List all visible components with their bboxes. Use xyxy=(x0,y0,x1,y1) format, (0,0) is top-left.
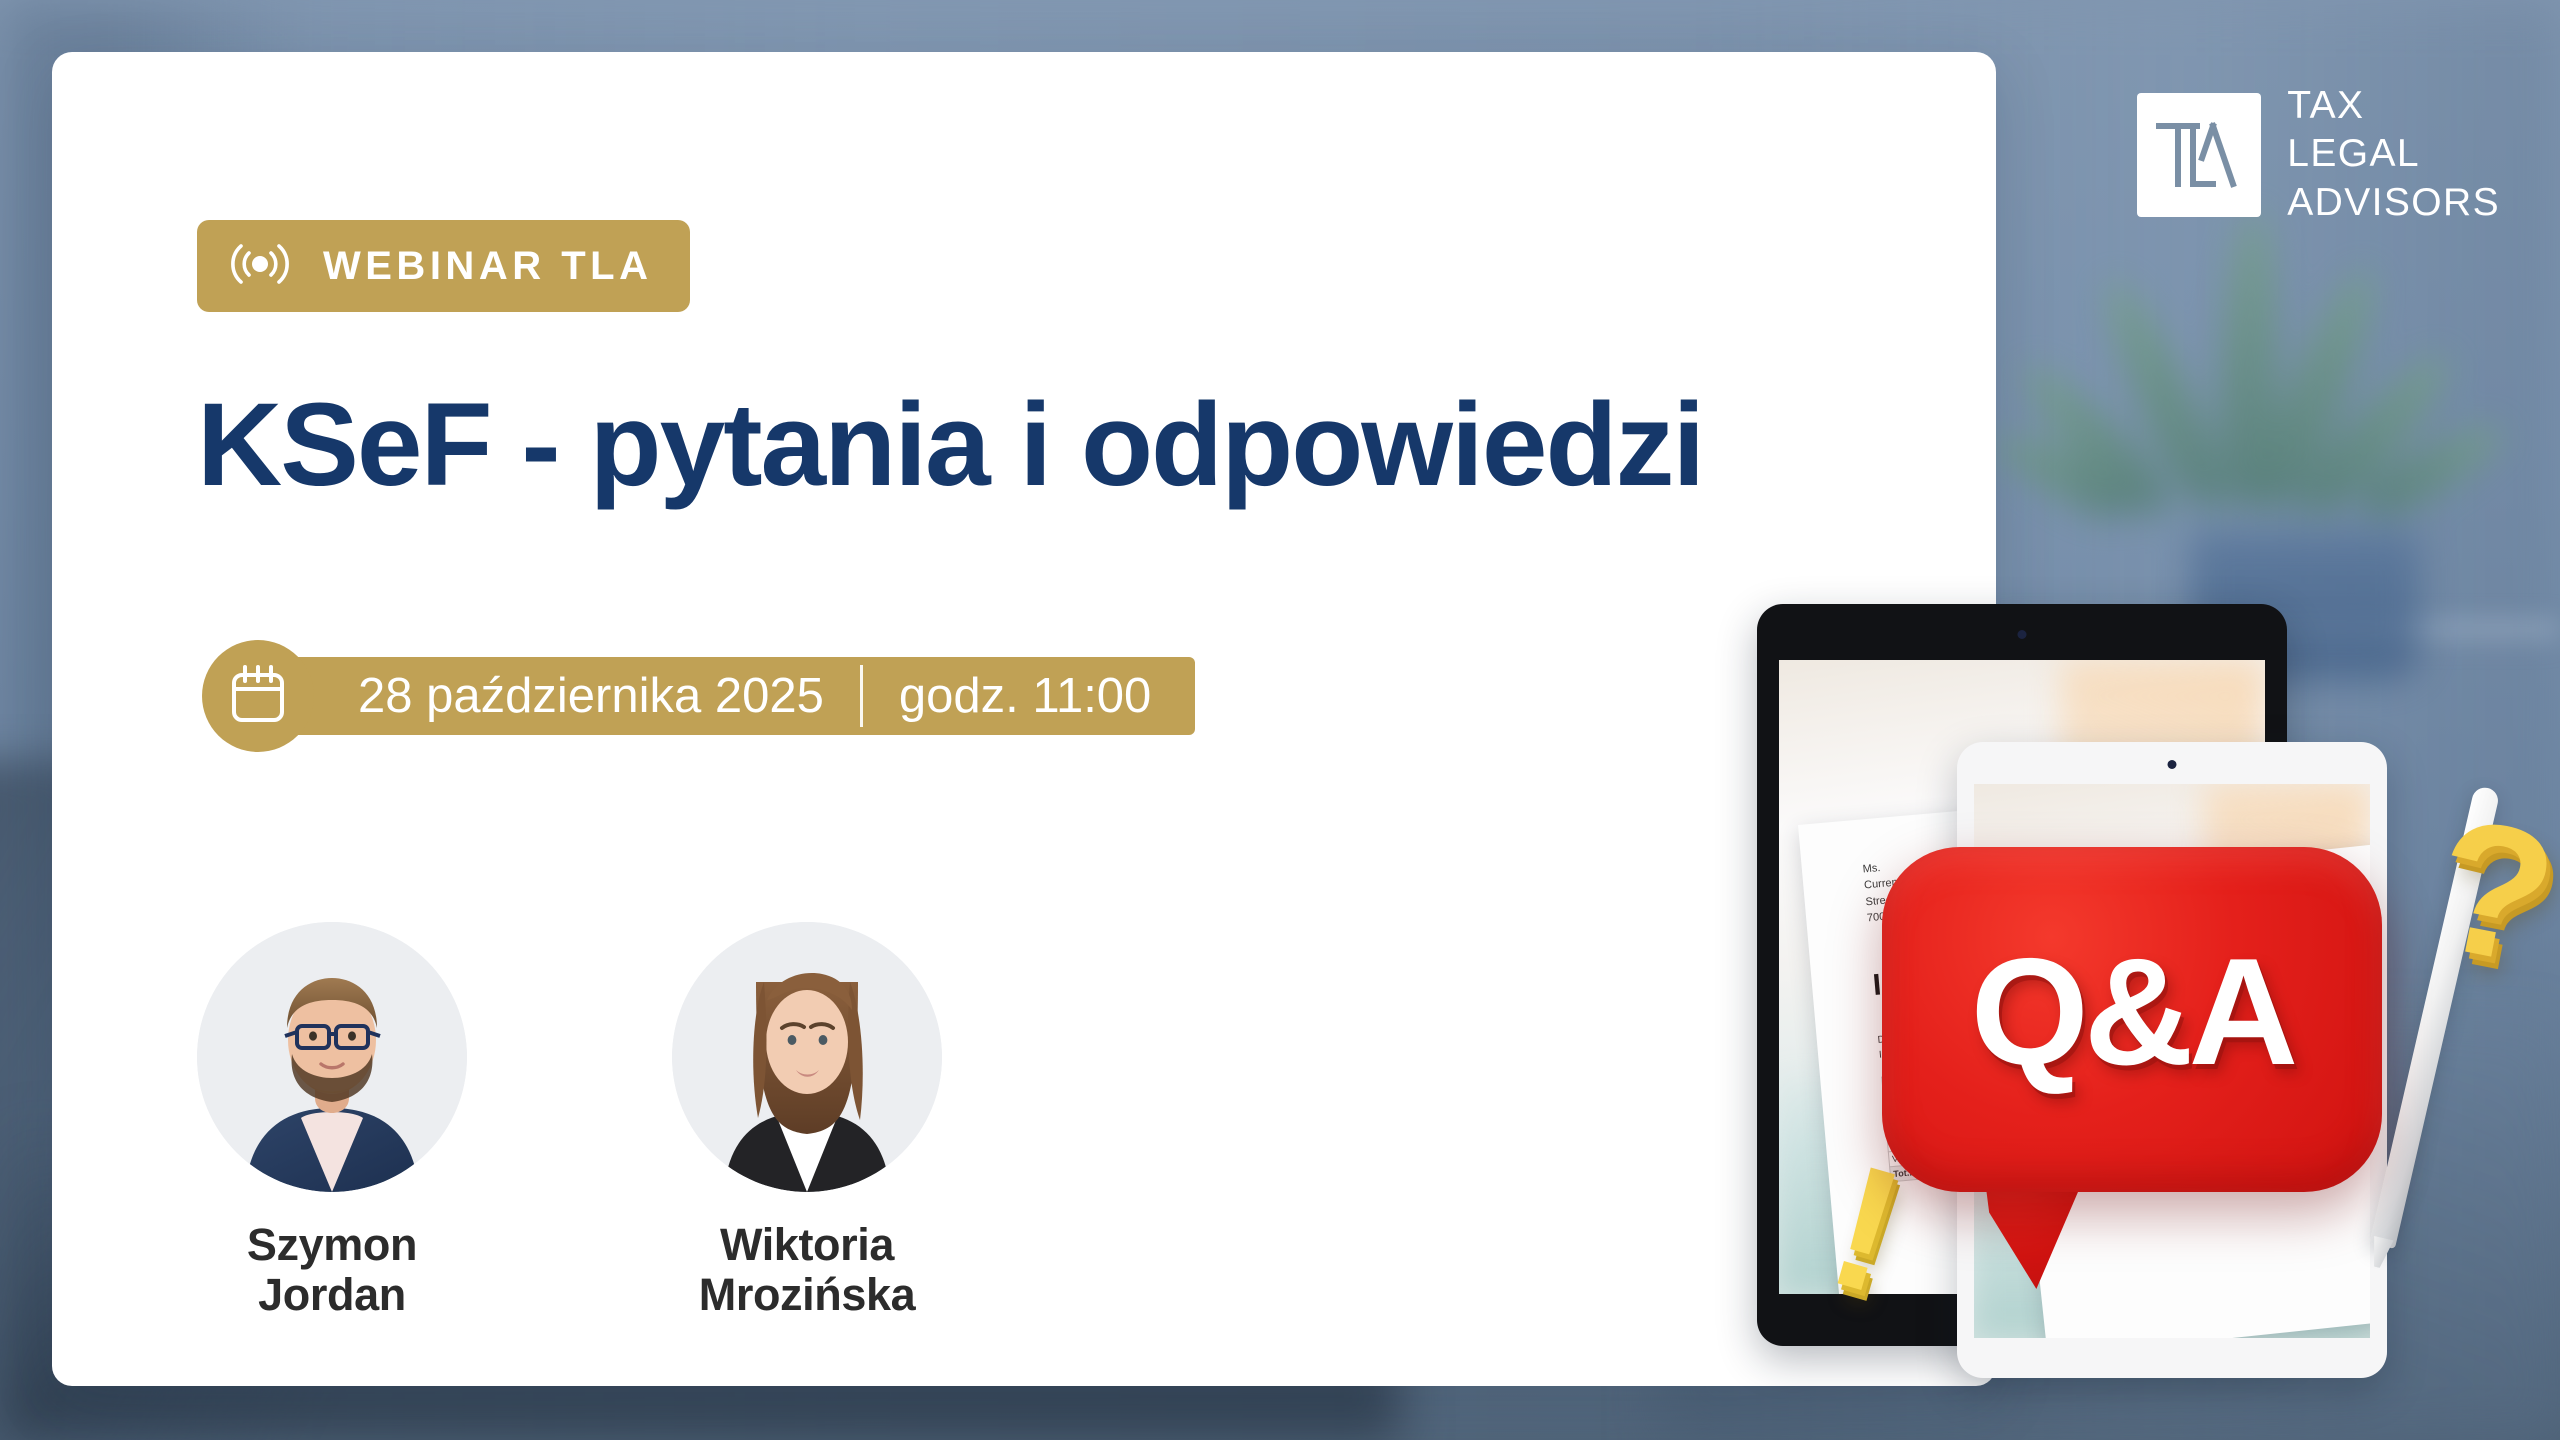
avatar xyxy=(197,922,467,1192)
speaker-szymon-jordan: Szymon Jordan xyxy=(197,922,467,1321)
page-title: KSeF - pytania i odpowiedzi xyxy=(197,382,1897,509)
qa-device-graphic: Ms. Current Name Street Name, 1 70000 Ci… xyxy=(1737,582,2560,1402)
webinar-badge-label: WEBINAR TLA xyxy=(323,244,652,289)
event-time: godz. 11:00 xyxy=(899,668,1151,724)
tla-logo: TAX LEGAL ADVISORS xyxy=(2137,82,2500,227)
tla-monogram-icon xyxy=(2137,93,2261,217)
date-time-badge: 28 października 2025 godz. 11:00 xyxy=(202,640,1195,752)
speaker-wiktoria-mrozinska: Wiktoria Mrozińska xyxy=(672,922,942,1321)
speaker-name: Wiktoria Mrozińska xyxy=(672,1220,942,1321)
content-card: WEBINAR TLA KSeF - pytania i odpowiedzi xyxy=(52,52,1996,1386)
camera-icon xyxy=(2018,630,2027,639)
broadcast-signal-icon xyxy=(231,241,289,292)
badge-divider xyxy=(860,665,863,727)
poster-canvas: WEBINAR TLA KSeF - pytania i odpowiedzi xyxy=(0,0,2560,1440)
avatar xyxy=(672,922,942,1192)
camera-icon xyxy=(2168,760,2177,769)
speakers-list: Szymon Jordan xyxy=(197,922,942,1321)
speaker-name: Szymon Jordan xyxy=(197,1220,467,1321)
webinar-badge: WEBINAR TLA xyxy=(197,220,690,312)
qa-label: Q&A xyxy=(1882,847,2382,1192)
question-mark-icon: ? xyxy=(2420,788,2560,994)
event-date: 28 października 2025 xyxy=(358,668,824,724)
calendar-icon-circle xyxy=(202,640,314,752)
calendar-icon xyxy=(229,663,287,730)
tla-logo-text: TAX LEGAL ADVISORS xyxy=(2287,82,2500,227)
qa-speech-bubble: Q&A xyxy=(1882,847,2382,1192)
date-time-bar: 28 października 2025 godz. 11:00 xyxy=(296,657,1195,735)
